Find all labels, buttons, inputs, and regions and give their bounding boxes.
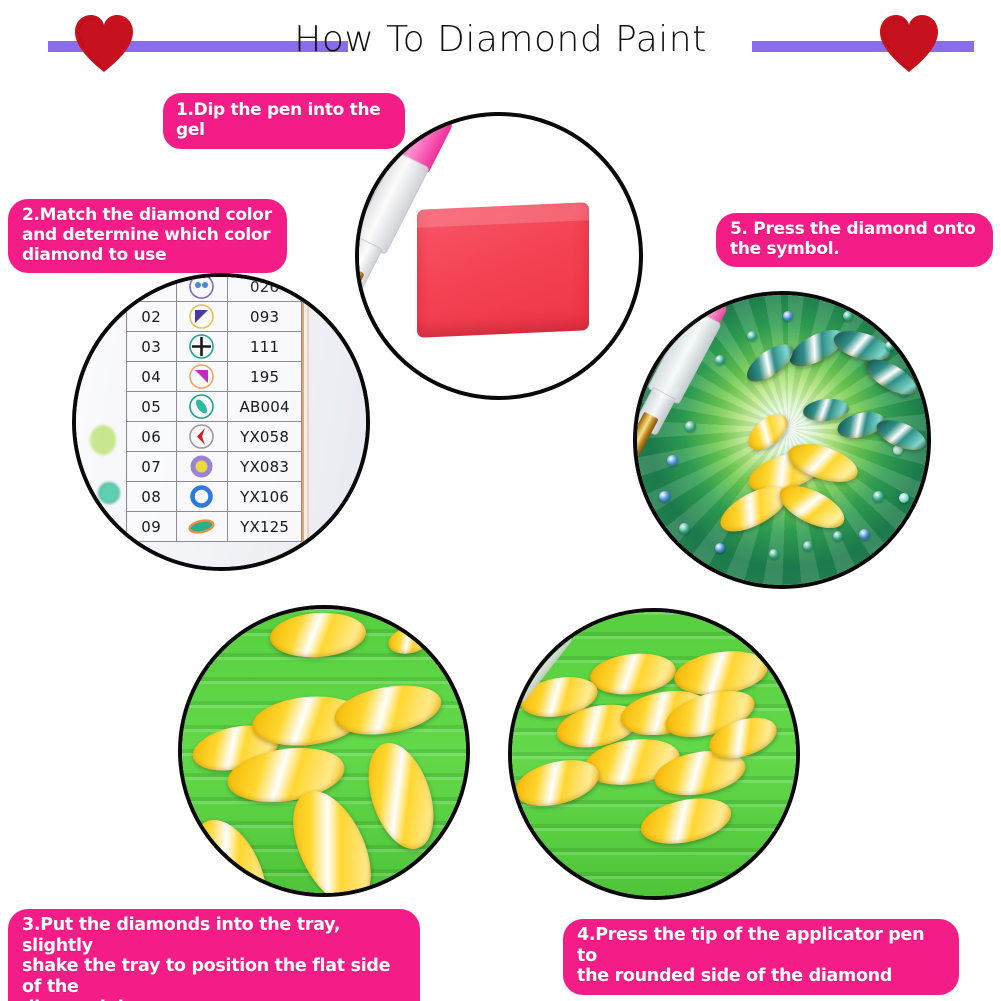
chart-row-number: 07 [127, 452, 177, 482]
table-row: 02093 [127, 302, 302, 332]
eyes-circle-icon [176, 273, 228, 302]
table-row: 06YX058 [127, 422, 302, 452]
chart-row-code: 093 [228, 302, 302, 332]
triangle-down-icon [176, 362, 228, 392]
dot-in-ring-icon [176, 452, 228, 482]
step-1-label: 1.Dip the pen into the gel [163, 93, 405, 149]
chart-row-code: AB004 [228, 392, 302, 422]
chart-row-code: 111 [228, 332, 302, 362]
table-row: 04195 [127, 362, 302, 392]
chart-row-number [127, 273, 177, 302]
diamond-gem [679, 523, 690, 534]
step-2-label-line-2: and determine which color [22, 225, 273, 245]
chart-row-number: 04 [127, 362, 177, 392]
step-4-label: 4.Press the tip of the applicator pen to… [563, 919, 959, 995]
chart-row-number: 09 [127, 512, 177, 542]
step-3-label-line-1: 3.Put the diamonds into the tray, slight… [22, 915, 406, 956]
step-4-label-line-1: 4.Press the tip of the applicator pen to [577, 925, 945, 966]
triangle-icon [176, 302, 228, 332]
canvas-paint-blob [90, 425, 116, 455]
chart-row-code: 195 [228, 362, 302, 392]
diamond-gem [899, 493, 909, 503]
step-3-label: 3.Put the diamonds into the tray, slight… [8, 909, 420, 1001]
photo-placing-diamond-on-canvas [633, 291, 931, 589]
step-2-label: 2.Match the diamond color and determine … [8, 199, 287, 273]
infographic-page: How To Diamond Paint 1.Dip the pen into … [0, 0, 1001, 1001]
diamond-gem [769, 549, 779, 559]
diamond-gem [659, 491, 670, 502]
step-5-label-line-1: 5. Press the diamond onto [730, 219, 979, 239]
diamond-gem [873, 491, 884, 502]
canvas-paint-blob [82, 503, 98, 517]
chart-row-number: 06 [127, 422, 177, 452]
diamond-gem [715, 355, 725, 365]
step-4-label-line-2: the rounded side of the diamond [577, 966, 945, 987]
table-row: 05AB004 [127, 392, 302, 422]
chart-row-code: YX125 [228, 512, 302, 542]
step-3-label-line-3: diamond down [22, 998, 406, 1001]
step-5-label: 5. Press the diamond onto the symbol. [716, 213, 993, 267]
plus-icon [176, 332, 228, 362]
diamond-gem [803, 541, 813, 551]
canvas-paint-blob [98, 482, 120, 504]
header: How To Diamond Paint [0, 0, 1001, 92]
chart-row-number: 02 [127, 302, 177, 332]
diamond-gem [783, 311, 793, 321]
table-row: 03111 [127, 332, 302, 362]
photo-color-symbol-chart: 02602093031110419505AB00406YX05807YX0830… [72, 273, 370, 571]
chart-row-code: 026 [228, 273, 302, 302]
diamond-gem [747, 331, 757, 341]
chart-row-number: 03 [127, 332, 177, 362]
diamond-gem [859, 529, 870, 540]
step-2-label-line-3: diamond to use [22, 245, 273, 265]
diamond-gem [885, 341, 895, 351]
photo-pen-picking-up-diamond [508, 608, 800, 900]
leaf-icon [176, 512, 228, 542]
diamond-gem [833, 531, 843, 541]
ring-icon [176, 482, 228, 512]
chevron-left-icon [176, 422, 228, 452]
photo-pen-dipping-in-gel [355, 112, 643, 400]
table-row: 07YX083 [127, 452, 302, 482]
table-row: 09YX125 [127, 512, 302, 542]
diamond-gem [843, 311, 853, 321]
step-3-label-line-2: shake the tray to position the flat side… [22, 956, 406, 997]
ellipse-icon [176, 392, 228, 422]
step-5-label-line-2: the symbol. [730, 239, 979, 259]
chart-row-number: 05 [127, 392, 177, 422]
chart-guide-line [307, 277, 309, 571]
step-2-label-line-1: 2.Match the diamond color [22, 205, 273, 225]
chart-row-code: YX083 [228, 452, 302, 482]
gel-pad [417, 202, 589, 338]
diamond-gem [667, 455, 678, 466]
photo-diamonds-in-tray [178, 605, 470, 897]
chart-row-code: YX058 [228, 422, 302, 452]
table-row: 026 [127, 273, 302, 302]
chart-row-code: YX106 [228, 482, 302, 512]
chart-row-number: 08 [127, 482, 177, 512]
diamond-gem [685, 421, 696, 432]
table-row: 08YX106 [127, 482, 302, 512]
diamond-gem [715, 543, 725, 553]
color-chart-table: 02602093031110419505AB00406YX05807YX0830… [126, 273, 302, 542]
page-title: How To Diamond Paint [0, 18, 1001, 62]
